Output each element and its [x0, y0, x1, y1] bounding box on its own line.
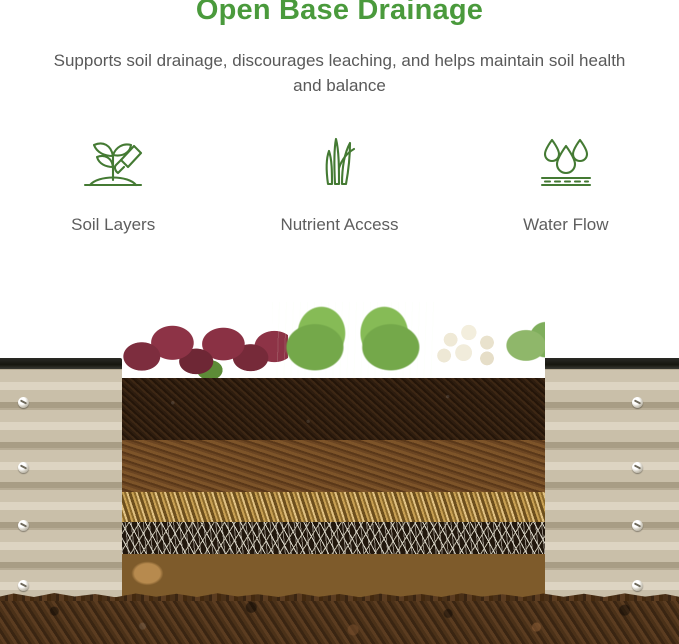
plant-row: [122, 290, 545, 380]
panel-screw: [632, 580, 643, 591]
panel-screw: [632, 520, 643, 531]
panel-top-rail: [545, 358, 679, 369]
soil-layer-logs: [122, 554, 545, 597]
page-subtitle: Supports soil drainage, discourages leac…: [50, 48, 629, 98]
feature-label: Nutrient Access: [280, 212, 398, 237]
soil-layer-stack: [122, 378, 545, 597]
feature-soil-layers: Soil Layers: [0, 132, 226, 282]
panel-screw: [18, 520, 29, 531]
panel-screw: [18, 580, 29, 591]
feature-label: Soil Layers: [71, 212, 155, 237]
panel-screw: [18, 397, 29, 408]
feature-water-flow: Water Flow: [453, 132, 679, 282]
grass-blades-icon: [304, 132, 374, 194]
feature-label: Water Flow: [523, 212, 608, 237]
panel-screw: [632, 462, 643, 473]
soil-layer-compost: [122, 440, 545, 492]
soil-layer-topsoil: [122, 378, 545, 440]
seedling-trowel-icon: [78, 132, 148, 194]
ground-soil: [0, 597, 679, 644]
right-metal-panel: [545, 368, 679, 597]
product-feature-page: Open Base Drainage Supports soil drainag…: [0, 0, 679, 644]
soil-layer-twigs: [122, 522, 545, 554]
water-droplets-icon: [531, 132, 601, 194]
page-title: Open Base Drainage: [0, 0, 679, 27]
panel-screw: [632, 397, 643, 408]
green-cabbage: [272, 302, 437, 380]
cauliflower: [422, 308, 545, 380]
header-section: Open Base Drainage Supports soil drainag…: [0, 0, 679, 290]
raised-garden-bed-cross-section: [0, 290, 679, 644]
left-metal-panel: [0, 368, 122, 597]
feature-list: Soil Layers Nutrient Access: [0, 132, 679, 282]
panel-top-rail: [0, 358, 122, 369]
panel-screw: [18, 462, 29, 473]
red-leaf-lettuce: [122, 318, 288, 380]
soil-layer-straw: [122, 492, 545, 522]
feature-nutrient-access: Nutrient Access: [226, 132, 452, 282]
